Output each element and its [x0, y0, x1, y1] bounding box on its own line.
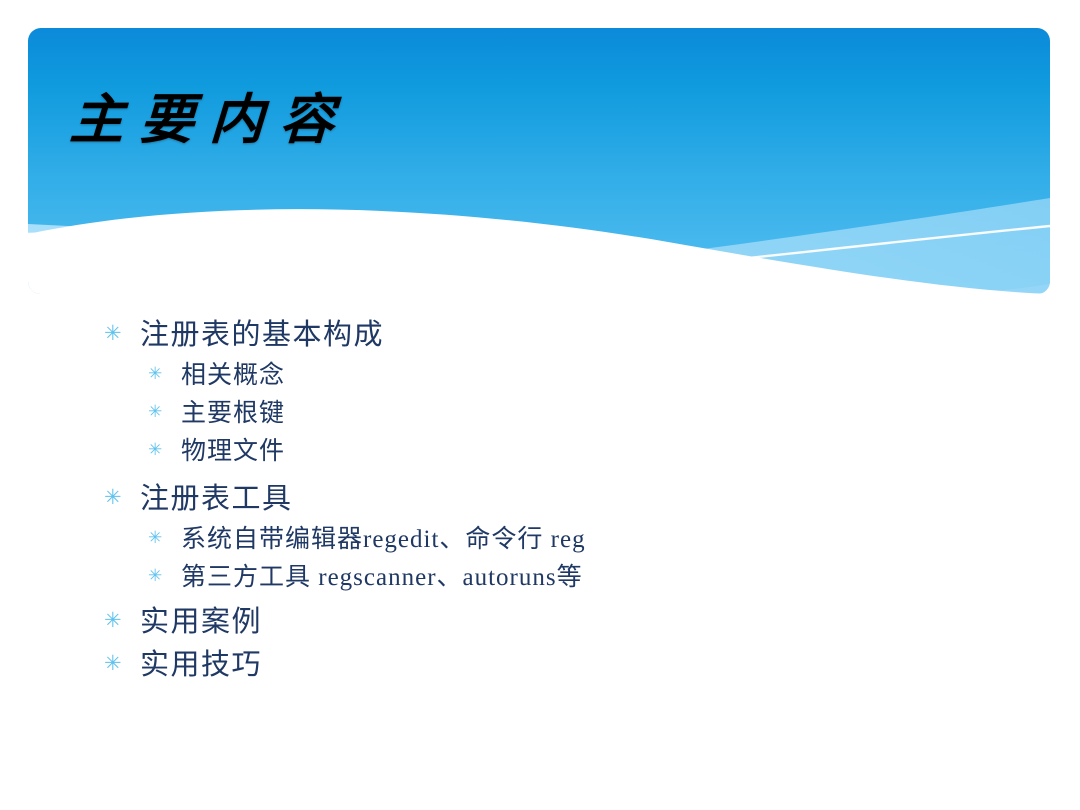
list-item[interactable]: ✳ 实用技巧 [104, 644, 964, 687]
list-item[interactable]: ✳ 第三方工具 regscanner、autoruns等 [104, 559, 964, 597]
list-item[interactable]: ✳ 相关概念 [104, 357, 964, 395]
list-item[interactable]: ✳ 系统自带编辑器regedit、命令行 reg [104, 521, 964, 559]
asterisk-bullet-icon: ✳ [148, 433, 181, 459]
asterisk-bullet-icon: ✳ [148, 357, 181, 383]
list-item[interactable]: ✳ 主要根键 [104, 395, 964, 433]
asterisk-bullet-icon: ✳ [104, 601, 140, 631]
asterisk-bullet-icon: ✳ [148, 395, 181, 421]
list-item-label: 主要根键 [181, 395, 285, 433]
list-item-label: 第三方工具 regscanner、autoruns等 [181, 559, 583, 597]
list-item[interactable]: ✳ 注册表工具 [104, 478, 964, 521]
list-item-label: 系统自带编辑器regedit、命令行 reg [181, 521, 586, 559]
list-item-label: 注册表工具 [140, 478, 293, 521]
list-item[interactable]: ✳ 物理文件 [104, 433, 964, 471]
asterisk-bullet-icon: ✳ [148, 559, 181, 585]
list-item[interactable]: ✳ 注册表的基本构成 [104, 314, 964, 357]
list-item-label: 物理文件 [181, 433, 285, 471]
page-title: 主要内容 [68, 78, 632, 162]
asterisk-bullet-icon: ✳ [104, 314, 140, 344]
list-item-label: 实用技巧 [140, 644, 262, 687]
asterisk-bullet-icon: ✳ [148, 521, 181, 547]
asterisk-bullet-icon: ✳ [104, 644, 140, 674]
list-item[interactable]: ✳ 实用案例 [104, 601, 964, 644]
outline-list: ✳ 注册表的基本构成 ✳ 相关概念 ✳ 主要根键 ✳ 物理文件 ✳ 注册表工具 … [104, 314, 964, 687]
list-item-label: 实用案例 [140, 601, 262, 644]
list-item-label: 相关概念 [181, 357, 285, 395]
list-item-label: 注册表的基本构成 [140, 314, 384, 357]
asterisk-bullet-icon: ✳ [104, 478, 140, 508]
list-spacer [104, 471, 964, 478]
slide-canvas: 主要内容 ✳ 注册表的基本构成 ✳ 相关概念 ✳ 主要根键 ✳ 物理文件 ✳ 注… [0, 0, 1080, 810]
